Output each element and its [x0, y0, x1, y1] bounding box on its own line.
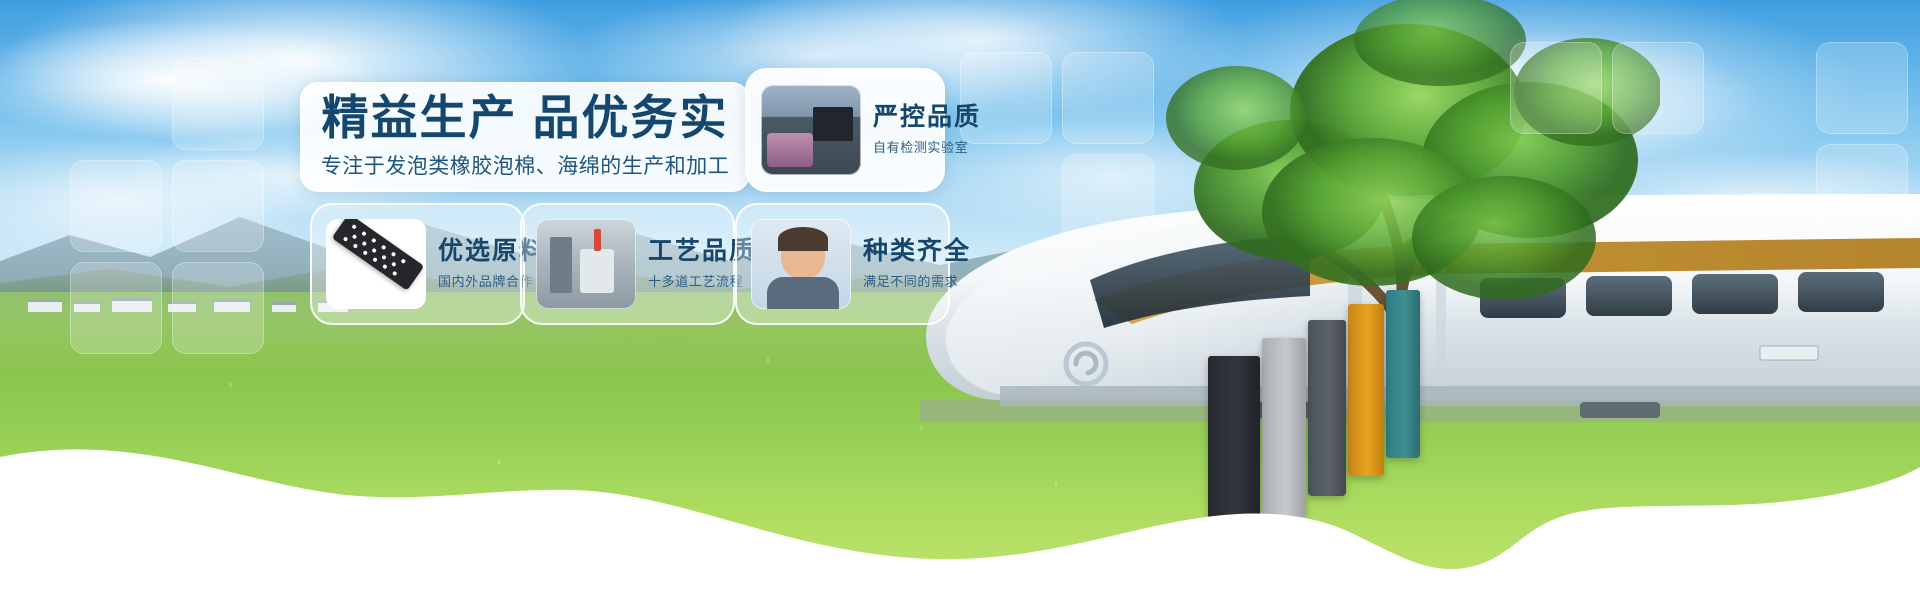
house-shape [28, 299, 62, 312]
house-shape [74, 301, 100, 312]
house-shape [272, 302, 296, 312]
strip-icon-canvas [326, 219, 426, 309]
feature-text-block: 种类齐全 满足不同的需求 [863, 238, 971, 290]
promo-banner: 精益生产 品优务实 专注于发泡类橡胶泡棉、海绵的生产和加工 严控品质 自有检测实… [0, 0, 1920, 601]
feature-card-process[interactable]: 工艺品质 十多道工艺流程 [520, 203, 735, 325]
feature-title: 种类齐全 [863, 238, 971, 266]
torso-shape [767, 277, 839, 309]
feature-title: 严控品质 [873, 104, 981, 132]
machine-body-shape [580, 249, 614, 293]
page-subtitle: 专注于发泡类橡胶泡棉、海绵的生产和加工 [321, 150, 730, 180]
feature-card-variety[interactable]: 种类齐全 满足不同的需求 [735, 203, 950, 325]
rubber-foam-strip-icon [326, 219, 426, 309]
signal-tower-shape [594, 229, 601, 251]
perforated-foam-strip [332, 219, 425, 291]
feature-card-quality[interactable]: 严控品质 自有检测实验室 [745, 68, 945, 192]
smiling-man-thumbsup-photo [751, 219, 851, 309]
machine-column-shape [550, 237, 572, 293]
bottom-wave-decoration [0, 361, 1920, 601]
hair-shape [778, 227, 828, 251]
monitor-shape [813, 107, 853, 141]
factory-machine-photo [536, 219, 636, 309]
feature-subtitle: 满足不同的需求 [863, 271, 971, 290]
feature-card-material[interactable]: 优选原料 国内外品牌合作 [310, 203, 525, 325]
feature-subtitle: 自有检测实验室 [873, 137, 981, 156]
house-shape [168, 301, 196, 312]
house-shape [214, 299, 250, 312]
headline-card: 精益生产 品优务实 专注于发泡类橡胶泡棉、海绵的生产和加工 [300, 82, 750, 192]
page-title: 精益生产 品优务实 [321, 94, 728, 141]
house-shape [112, 298, 152, 312]
lab-technician-photo [761, 85, 861, 175]
feature-text-block: 严控品质 自有检测实验室 [873, 104, 981, 156]
